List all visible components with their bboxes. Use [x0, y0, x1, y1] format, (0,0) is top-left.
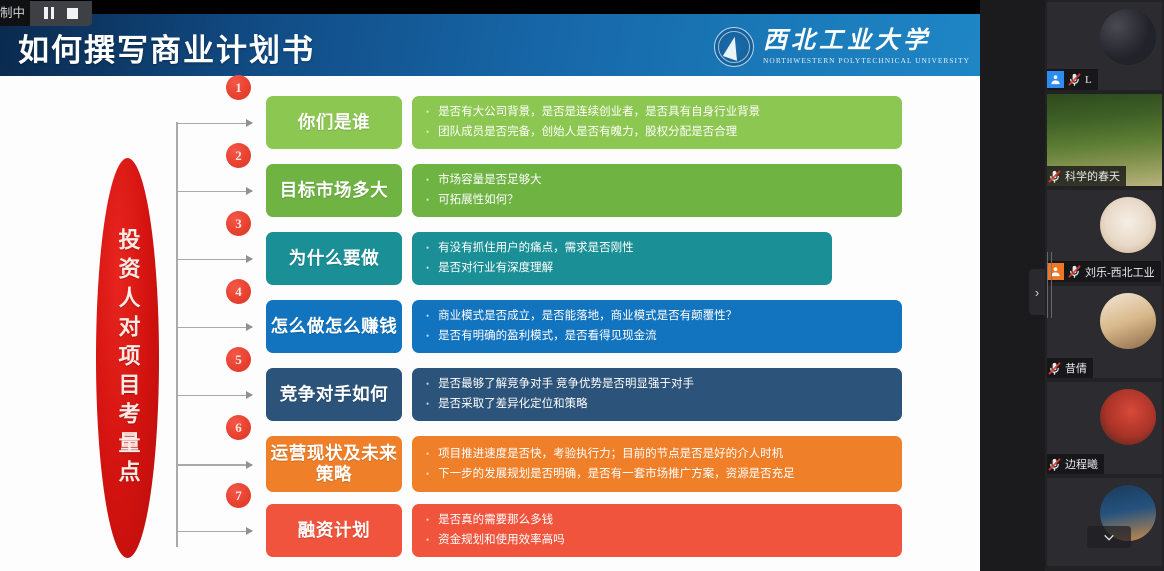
- bullet-icon: •: [426, 450, 429, 459]
- page-title: 如何撰写商业计划书: [18, 25, 315, 70]
- connector-branch: [176, 395, 252, 397]
- bullet-icon: •: [426, 400, 429, 409]
- letterbox-strip: [0, 0, 980, 14]
- detail-line: •是否采取了差异化定位和策略: [426, 397, 890, 412]
- detail-line: •是否有大公司背景，是否是连续创业者，是否具有自身行业背景: [426, 105, 890, 120]
- avatar: [1100, 197, 1156, 253]
- connector-branch: [176, 191, 252, 193]
- row-label-2: 目标市场多大: [266, 164, 402, 217]
- row-details-2: •市场容量是否足够大•可拓展性如何？: [412, 164, 902, 217]
- rail-drag-handle[interactable]: [1047, 252, 1052, 318]
- detail-line: •是否真的需要那么多钱: [426, 513, 890, 528]
- step-number-3: 3: [226, 211, 251, 236]
- detail-text: 项目推进速度是否快，考验执行力；目前的节点是否是好的介人时机: [438, 447, 783, 462]
- mic-muted-icon: [1067, 264, 1082, 279]
- detail-text: 是否有大公司背景，是否是连续创业者，是否具有自身行业背景: [438, 105, 760, 120]
- detail-line: •项目推进速度是否快，考验执行力；目前的节点是否是好的介人时机: [426, 447, 890, 462]
- participant-tile[interactable]: 边程曦: [1047, 382, 1162, 474]
- participant-name: L: [1085, 74, 1092, 86]
- step-number-7: 7: [226, 483, 251, 508]
- participant-tile[interactable]: 刘乐-西北工业: [1047, 190, 1162, 282]
- chevron-down-icon[interactable]: [1087, 526, 1131, 548]
- detail-line: •商业模式是否成立，是否能落地，商业模式是否有颠覆性？: [426, 309, 890, 324]
- university-logo: 西北工业大学 NORTHWESTERN POLYTECHNICAL UNIVER…: [714, 27, 970, 67]
- participant-name: 科学的春天: [1065, 168, 1120, 184]
- detail-text: 市场容量是否足够大: [438, 173, 542, 188]
- person-icon: [1047, 71, 1064, 88]
- detail-line: •团队成员是否完备，创始人是否有魄力，股权分配是否合理: [426, 125, 890, 140]
- mic-muted-icon: [1067, 72, 1082, 87]
- row-label-5: 竞争对手如何: [266, 368, 402, 421]
- connector-branch: [176, 327, 252, 329]
- connector-branch: [176, 259, 252, 261]
- bullet-icon: •: [426, 536, 429, 545]
- detail-line: •是否对行业有深度理解: [426, 261, 820, 276]
- participant-tile[interactable]: 科学的春天: [1047, 94, 1162, 186]
- detail-line: •是否最够了解竞争对手 竞争优势是否明显强于对手: [426, 377, 890, 392]
- detail-line: •下一步的发展规划是否明确，是否有一套市场推广方案，资源是否充足: [426, 467, 890, 482]
- university-name-cn: 西北工业大学: [763, 29, 970, 54]
- participant-name: 昔倩: [1065, 360, 1087, 376]
- detail-text: 是否对行业有深度理解: [438, 261, 553, 276]
- detail-text: 有没有抓住用户的痛点，需求是否刚性: [438, 241, 634, 256]
- connector-branch: [176, 464, 252, 466]
- avatar: [1100, 9, 1156, 65]
- detail-text: 资金规划和使用效率高吗: [438, 533, 565, 548]
- mic-muted-icon: [1047, 361, 1062, 376]
- detail-text: 下一步的发展规划是否明确，是否有一套市场推广方案，资源是否充足: [438, 467, 795, 482]
- row-label-3: 为什么要做: [266, 232, 402, 285]
- row-details-6: •项目推进速度是否快，考验执行力；目前的节点是否是好的介人时机•下一步的发展规划…: [412, 436, 902, 492]
- recording-buttons[interactable]: [30, 1, 92, 26]
- participant-nameplate: 科学的春天: [1047, 166, 1126, 186]
- participant-name: 刘乐-西北工业: [1085, 264, 1155, 280]
- connector-trunk: [176, 122, 178, 547]
- recording-controls[interactable]: 制中: [0, 0, 92, 26]
- bullet-icon: •: [426, 516, 429, 525]
- participant-nameplate: 边程曦: [1047, 454, 1104, 474]
- diagram-canvas: 投资人对项目考量点 1你们是谁•是否有大公司背景，是否是连续创业者，是否具有自身…: [0, 76, 980, 571]
- row-label-1: 你们是谁: [266, 96, 402, 149]
- participant-rail[interactable]: L科学的春天刘乐-西北工业昔倩边程曦: [1045, 0, 1164, 571]
- row-details-5: •是否最够了解竞争对手 竞争优势是否明显强于对手•是否采取了差异化定位和策略: [412, 368, 902, 421]
- bullet-icon: •: [426, 380, 429, 389]
- stop-icon[interactable]: [67, 8, 78, 19]
- slide-header: 如何撰写商业计划书 西北工业大学 NORTHWESTERN POLYTECHNI…: [0, 14, 980, 76]
- mic-muted-icon: [1047, 457, 1062, 472]
- bullet-icon: •: [426, 108, 429, 117]
- participant-tile[interactable]: 昔倩: [1047, 286, 1162, 378]
- presentation-slide: 如何撰写商业计划书 西北工业大学 NORTHWESTERN POLYTECHNI…: [0, 14, 980, 571]
- row-label-6: 运营现状及未来策略: [266, 436, 402, 492]
- step-number-5: 5: [226, 347, 251, 372]
- bullet-icon: •: [426, 244, 429, 253]
- bullet-icon: •: [426, 470, 429, 479]
- bullet-icon: •: [426, 264, 429, 273]
- detail-line: •是否有明确的盈利模式，是否看得见现金流: [426, 329, 890, 344]
- detail-text: 是否最够了解竞争对手 竞争优势是否明显强于对手: [438, 377, 694, 392]
- step-number-4: 4: [226, 279, 251, 304]
- row-details-3: •有没有抓住用户的痛点，需求是否刚性•是否对行业有深度理解: [412, 232, 832, 285]
- detail-text: 商业模式是否成立，是否能落地，商业模式是否有颠覆性？: [438, 309, 737, 324]
- row-details-7: •是否真的需要那么多钱•资金规划和使用效率高吗: [412, 504, 902, 557]
- step-number-1: 1: [226, 75, 251, 100]
- detail-line: •可拓展性如何？: [426, 193, 890, 208]
- step-number-2: 2: [226, 143, 251, 168]
- recording-label: 制中: [0, 0, 30, 26]
- row-details-1: •是否有大公司背景，是否是连续创业者，是否具有自身行业背景•团队成员是否完备，创…: [412, 96, 902, 149]
- participant-tile[interactable]: L: [1047, 2, 1162, 90]
- collapse-rail-button[interactable]: ›: [1029, 269, 1045, 315]
- bullet-icon: •: [426, 176, 429, 185]
- detail-line: •有没有抓住用户的痛点，需求是否刚性: [426, 241, 820, 256]
- avatar: [1100, 389, 1156, 445]
- bullet-icon: •: [426, 196, 429, 205]
- bullet-icon: •: [426, 128, 429, 137]
- detail-text: 是否真的需要那么多钱: [438, 513, 553, 528]
- avatar: [1100, 293, 1156, 349]
- oval-label: 投资人对项目考量点: [117, 228, 139, 489]
- participant-tile[interactable]: [1047, 478, 1162, 566]
- step-number-6: 6: [226, 415, 251, 440]
- bullet-icon: •: [426, 312, 429, 321]
- university-name-en: NORTHWESTERN POLYTECHNICAL UNIVERSITY: [763, 56, 970, 65]
- participant-nameplate: 刘乐-西北工业: [1047, 261, 1161, 282]
- shared-screen-stage[interactable]: 如何撰写商业计划书 西北工业大学 NORTHWESTERN POLYTECHNI…: [0, 0, 980, 571]
- participant-tiles: L科学的春天刘乐-西北工业昔倩边程曦: [1045, 2, 1164, 566]
- meeting-window: 如何撰写商业计划书 西北工业大学 NORTHWESTERN POLYTECHNI…: [0, 0, 1164, 571]
- detail-line: •资金规划和使用效率高吗: [426, 533, 890, 548]
- pause-icon[interactable]: [44, 7, 54, 19]
- tile-background: [1047, 478, 1162, 566]
- participant-name: 边程曦: [1065, 456, 1098, 472]
- row-label-7: 融资计划: [266, 504, 402, 557]
- participant-nameplate: 昔倩: [1047, 358, 1093, 378]
- mic-muted-icon: [1047, 169, 1062, 184]
- chevron-right-icon: ›: [1035, 285, 1039, 300]
- detail-line: •市场容量是否足够大: [426, 173, 890, 188]
- connector-branch: [176, 531, 252, 533]
- connector-branch: [176, 123, 252, 125]
- row-label-4: 怎么做怎么赚钱: [266, 300, 402, 353]
- bullet-icon: •: [426, 332, 429, 341]
- detail-text: 可拓展性如何？: [438, 193, 519, 208]
- detail-text: 团队成员是否完备，创始人是否有魄力，股权分配是否合理: [438, 125, 737, 140]
- university-seal-icon: [714, 27, 754, 67]
- detail-text: 是否有明确的盈利模式，是否看得见现金流: [438, 329, 657, 344]
- row-details-4: •商业模式是否成立，是否能落地，商业模式是否有颠覆性？•是否有明确的盈利模式，是…: [412, 300, 902, 353]
- investor-criteria-oval: 投资人对项目考量点: [96, 158, 159, 558]
- participant-nameplate: L: [1047, 69, 1098, 90]
- detail-text: 是否采取了差异化定位和策略: [438, 397, 588, 412]
